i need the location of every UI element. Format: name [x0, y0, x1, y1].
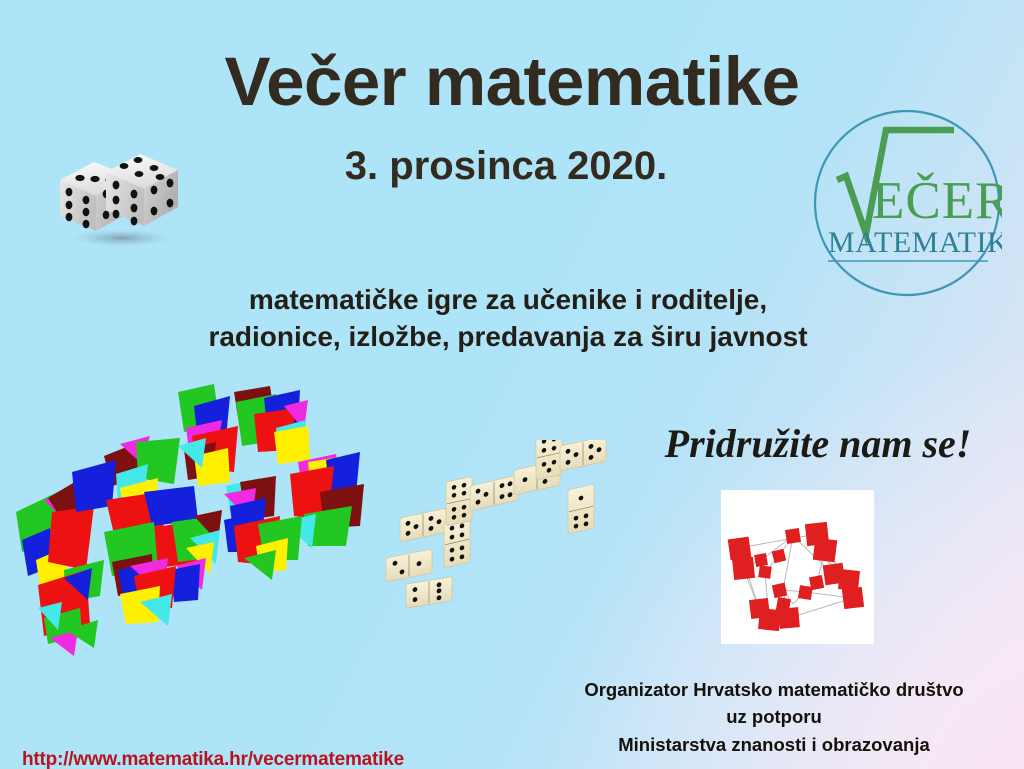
poster-title: Večer matematike	[0, 47, 1024, 116]
poster-subtitle: matematičke igre za učenike i roditelje,…	[0, 281, 1024, 355]
poster-canvas: Večer matematike 3. prosinca 2020. EČER …	[0, 0, 1024, 769]
subtitle-line-1: matematičke igre za učenike i roditelje,	[0, 281, 1016, 318]
website-url[interactable]: http://www.matematika.hr/vecermatematike	[22, 749, 404, 769]
vecer-matematike-logo: EČER MATEMATIKE	[812, 108, 1002, 298]
tangram-illustration	[8, 380, 378, 660]
organizer-block: Organizator Hrvatsko matematičko društvo…	[534, 676, 1014, 758]
call-to-action-text: Pridružite nam se!	[658, 420, 978, 467]
subtitle-line-2: radionice, izložbe, predavanja za širu j…	[0, 318, 1016, 355]
graph-network-panel	[721, 490, 874, 644]
svg-text:EČER: EČER	[872, 172, 1002, 230]
svg-text:MATEMATIKE: MATEMATIKE	[828, 226, 1002, 259]
organizer-line-2: uz potporu	[534, 703, 1014, 730]
organizer-line-3: Ministarstva znanosti i obrazovanja	[534, 731, 1014, 758]
organizer-line-1: Organizator Hrvatsko matematičko društvo	[534, 676, 1014, 703]
dominoes-illustration	[382, 440, 632, 610]
